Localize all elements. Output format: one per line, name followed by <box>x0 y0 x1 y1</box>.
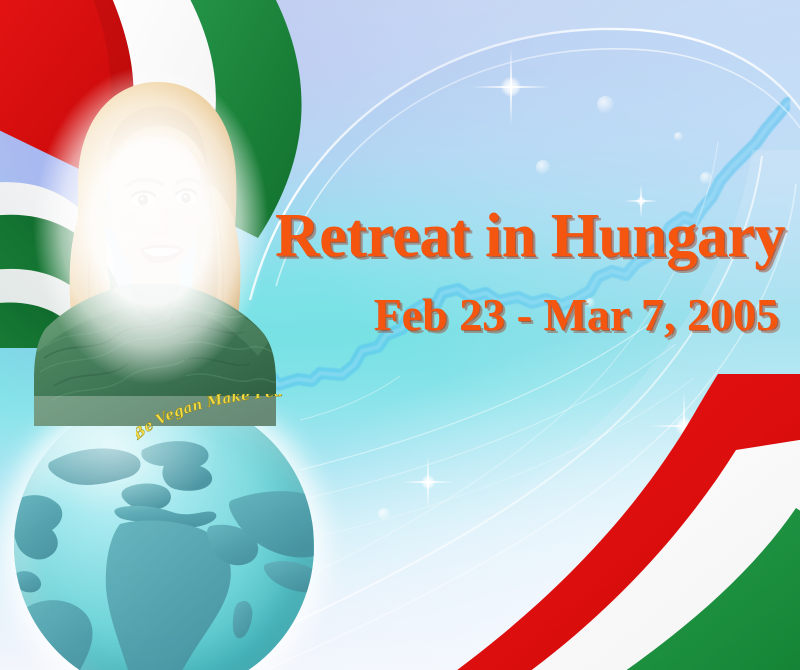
headline-block: Retreat in Hungary Feb 23 - Mar 7, 2005 <box>275 204 785 340</box>
page-title: Retreat in Hungary <box>275 204 785 268</box>
hungary-flag-ribbon-bottom-right-icon <box>444 374 800 670</box>
date-range: Feb 23 - Mar 7, 2005 <box>275 290 779 340</box>
shirt-slogan-text: Be Vegan Make Peace <box>136 394 284 444</box>
woman-portrait: Be Vegan Make Peace <box>26 66 276 426</box>
retreat-poster: Be Vegan Make Peace Retreat in Hungary F… <box>0 0 800 670</box>
shirt-slogan: Be Vegan Make Peace <box>136 394 286 454</box>
svg-text:Be Vegan Make Peace: Be Vegan Make Peace <box>136 394 284 444</box>
